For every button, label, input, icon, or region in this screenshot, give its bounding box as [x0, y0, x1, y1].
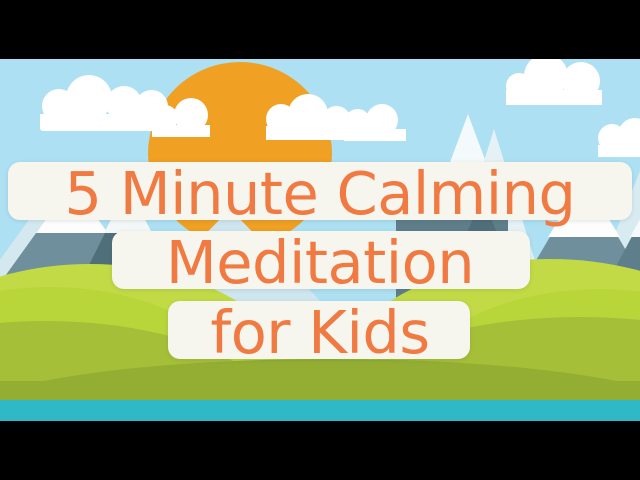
video-frame: 5 Minute Calming Meditation for Kids [0, 0, 640, 480]
letterbox-bar-bottom [0, 421, 640, 480]
video-canvas: 5 Minute Calming Meditation for Kids [0, 59, 640, 421]
title-line-1: 5 Minute Calming [0, 164, 640, 223]
title-line-2: Meditation [0, 233, 640, 292]
title-overlay: 5 Minute Calming Meditation for Kids [0, 59, 640, 421]
letterbox-bar-top [0, 0, 640, 59]
title-line-3: for Kids [0, 303, 640, 362]
